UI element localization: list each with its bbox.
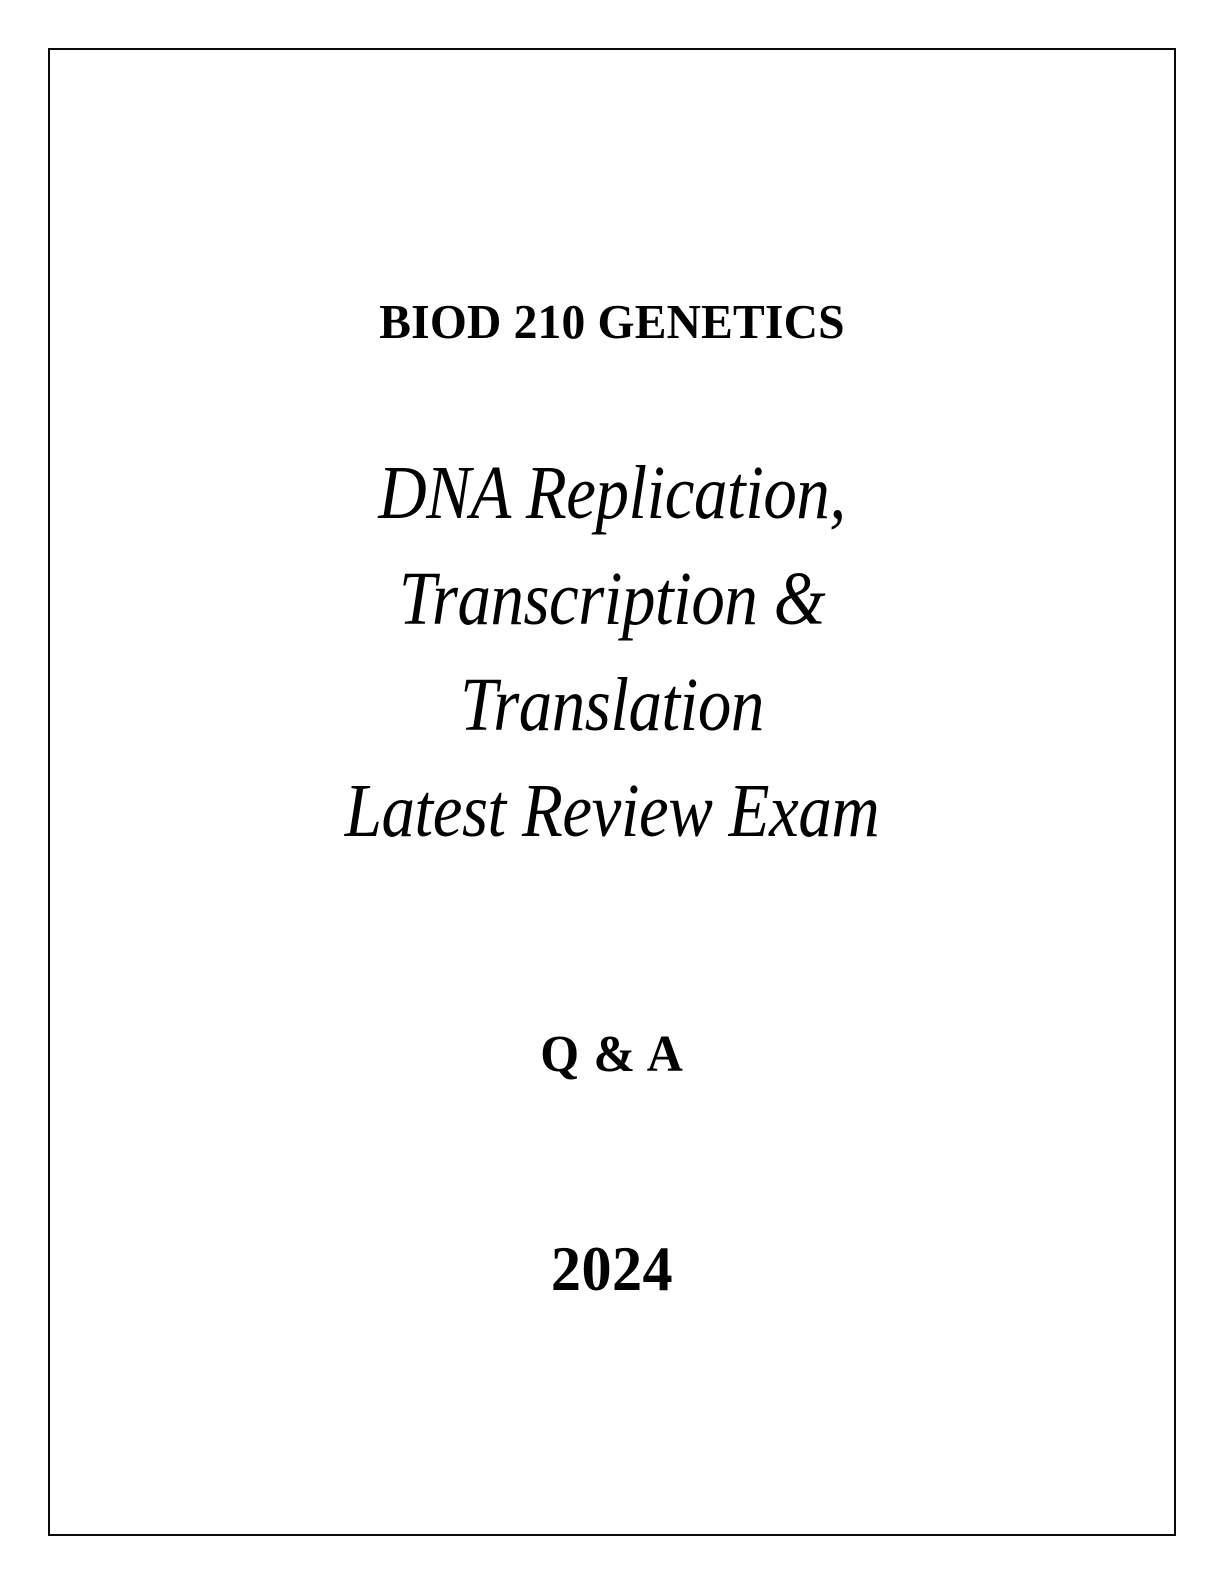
cover-content: BIOD 210 GENETICS DNA Replication, Trans… [48,48,1176,1536]
title-line-2: Transcription & [124,546,1099,652]
title-line-1: DNA Replication, [124,440,1099,546]
qa-label: Q & A [94,1026,1131,1083]
title-line-4: Latest Review Exam [124,758,1099,864]
title-line-3: Translation [124,652,1099,758]
year-label: 2024 [104,1234,1119,1304]
document-title: DNA Replication, Transcription & Transla… [58,440,1166,864]
course-heading: BIOD 210 GENETICS [88,296,1136,348]
document-page: BIOD 210 GENETICS DNA Replication, Trans… [0,0,1224,1584]
